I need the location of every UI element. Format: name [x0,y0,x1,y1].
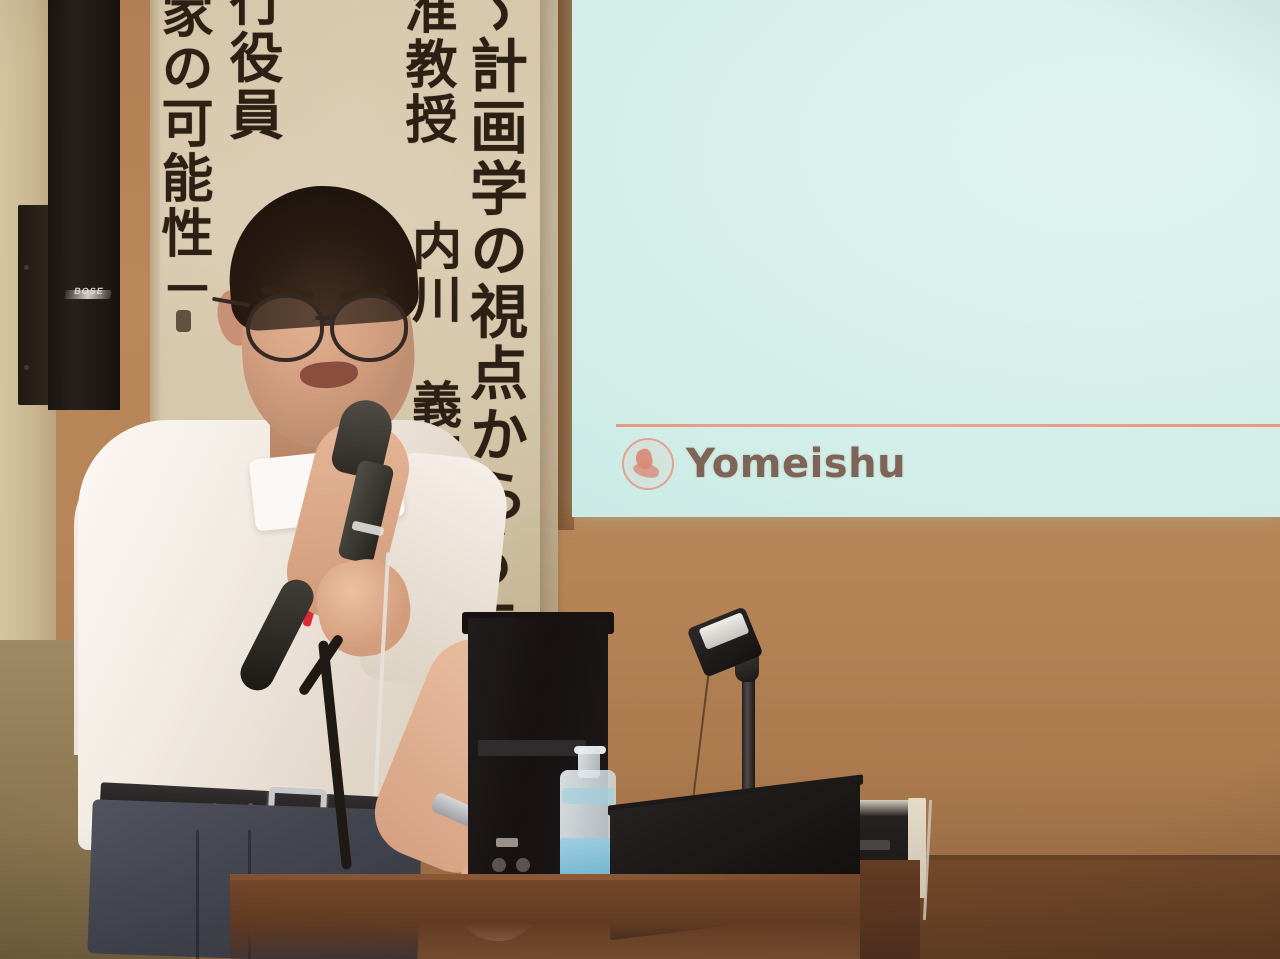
eyeglass-lens-left [246,294,324,362]
speaker-wall-bracket [18,205,52,405]
water-bottle-band [562,788,614,804]
yomeishu-crest-icon [622,438,674,490]
slide-brand-text: Yomeishu [686,441,906,487]
av-rack-display[interactable] [496,838,518,847]
slide-logo-group: Yomeishu [622,438,906,490]
eyeglass-bridge [315,316,335,320]
lecture-photo: Yomeishu 家の可能性－ 行役員 准教授 内川 義行 〜計画学の視点から〜… [0,0,1280,959]
banner-column-possibility: 家の可能性－ [156,0,208,317]
round-eyeglasses-icon [246,290,426,360]
av-rack-button-1[interactable] [492,858,506,872]
lectern [230,880,890,959]
bose-wall-speaker [48,0,120,410]
banner-mark [176,310,191,332]
wall-lower-band [880,860,1280,959]
slide-horizontal-rule [616,424,1280,427]
banner-right-shadow [540,0,566,690]
av-rack-slot [478,740,586,756]
bose-brand-text: BOSE [63,286,115,296]
lectern-right-side [860,860,920,959]
banner-column-executive-officer: 行役員 [225,0,279,144]
av-rack-button-2[interactable] [516,858,530,872]
eyeglass-lens-right [330,294,408,362]
banner-column-associate-professor: 准教授 [400,0,452,147]
